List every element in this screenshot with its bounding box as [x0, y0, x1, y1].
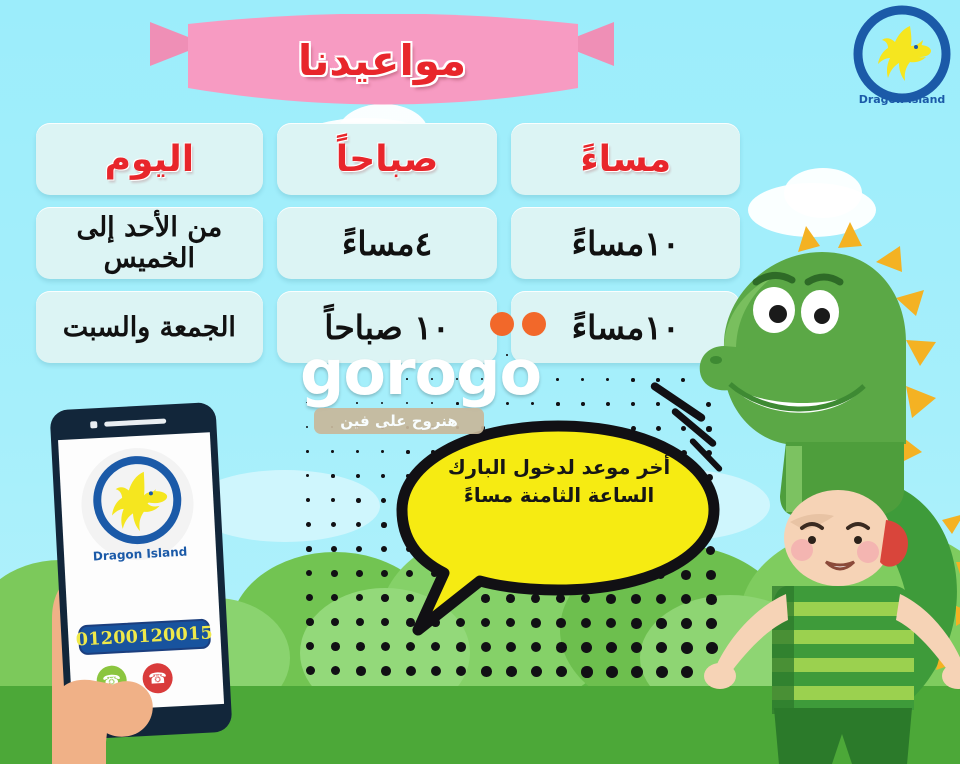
halftone-dot — [581, 666, 593, 678]
halftone-dot — [581, 642, 592, 653]
poster-canvas: Dragon Island مواعيدنا مساءً صباحاً اليو… — [0, 0, 960, 764]
halftone-dot — [481, 642, 491, 652]
halftone-dot — [631, 666, 643, 678]
phone-call-illustration: Dragon Island 01200120015 ☎ ☎ — [46, 398, 278, 764]
halftone-dot — [306, 474, 309, 477]
notice-line-1: أخر موعد لدخول البارك — [434, 454, 684, 482]
halftone-dot — [356, 546, 362, 552]
halftone-dot — [656, 666, 668, 678]
row-0-evening-value: ١٠مساءً — [572, 224, 680, 263]
halftone-dot — [356, 666, 366, 676]
row-0-day-value: من الأحد إلى الخميس — [36, 212, 263, 274]
brand-logo: Dragon Island — [848, 4, 956, 112]
watermark-brand: gorogo — [300, 336, 648, 409]
halftone-dot — [606, 666, 618, 678]
halftone-dot — [356, 522, 361, 527]
row-0-day: من الأحد إلى الخميس — [36, 207, 263, 279]
header-morning: صباحاً — [277, 123, 498, 195]
halftone-dot — [431, 642, 440, 651]
halftone-dot — [556, 642, 567, 653]
table-row: ١٠مساءً ٤مساءً من الأحد إلى الخميس — [36, 207, 740, 279]
row-0-morning-value: ٤مساءً — [342, 224, 432, 263]
halftone-dot — [506, 666, 517, 677]
halftone-dot — [356, 618, 364, 626]
halftone-dot — [331, 594, 338, 601]
row-1-day: الجمعة والسبت — [36, 291, 263, 363]
halftone-dot — [506, 642, 516, 652]
header-morning-label: صباحاً — [336, 139, 438, 180]
halftone-dot — [331, 618, 339, 626]
halftone-dot — [331, 642, 340, 651]
header-evening: مساءً — [511, 123, 740, 195]
halftone-dot — [656, 642, 667, 653]
halftone-dot — [456, 666, 466, 676]
halftone-dot — [656, 402, 660, 406]
halftone-dot — [356, 642, 365, 651]
halftone-dot — [356, 450, 359, 453]
watermark-dot — [522, 312, 546, 336]
halftone-dot — [556, 666, 567, 677]
halftone-dot — [331, 570, 338, 577]
halftone-dot — [656, 378, 660, 382]
notice-line-2: الساعة الثامنة مساءً — [434, 482, 684, 510]
svg-text:Dragon Island: Dragon Island — [859, 93, 946, 106]
halftone-dot — [681, 378, 685, 382]
halftone-dot — [306, 594, 313, 601]
halftone-dot — [331, 666, 340, 675]
header-evening-label: مساءً — [580, 139, 671, 180]
halftone-dot — [481, 666, 492, 677]
halftone-dot — [331, 546, 337, 552]
title-ribbon: مواعيدنا — [148, 14, 616, 114]
watermark: gorogo هنروح على فين — [300, 336, 648, 448]
halftone-dot — [331, 474, 335, 478]
halftone-dot — [606, 642, 617, 653]
halftone-dot — [431, 666, 441, 676]
halftone-dot — [331, 498, 335, 502]
halftone-dot — [356, 594, 363, 601]
halftone-dot — [531, 642, 541, 652]
halftone-dot — [406, 642, 415, 651]
halftone-dot — [456, 642, 466, 652]
halftone-dot — [406, 666, 416, 676]
halftone-dot — [331, 522, 336, 527]
page-title: مواعيدنا — [148, 14, 616, 114]
notice-text: أخر موعد لدخول البارك الساعة الثامنة مسا… — [434, 454, 684, 511]
halftone-dot — [306, 522, 311, 527]
halftone-dot — [306, 618, 314, 626]
watermark-dot — [490, 312, 514, 336]
halftone-dot — [631, 642, 642, 653]
watermark-tagline: هنروح على فين — [314, 408, 484, 434]
halftone-dot — [381, 666, 391, 676]
halftone-dot — [356, 498, 361, 503]
halftone-dot — [306, 546, 312, 552]
table-header-row: مساءً صباحاً اليوم — [36, 123, 740, 195]
row-0-morning: ٤مساءً — [277, 207, 498, 279]
halftone-dot — [306, 450, 309, 453]
halftone-dot — [356, 570, 363, 577]
row-1-day-value: الجمعة والسبت — [63, 312, 236, 343]
header-day-label: اليوم — [105, 139, 195, 180]
halftone-dot — [531, 666, 542, 677]
halftone-dot — [306, 666, 315, 675]
halftone-dot — [356, 474, 360, 478]
halftone-dot — [306, 570, 312, 576]
header-day: اليوم — [36, 123, 263, 195]
halftone-dot — [306, 498, 310, 502]
notice-speech-bubble: أخر موعد لدخول البارك الساعة الثامنة مسا… — [378, 418, 738, 640]
halftone-dot — [331, 450, 334, 453]
halftone-dot — [306, 642, 314, 650]
halftone-dot — [381, 642, 390, 651]
